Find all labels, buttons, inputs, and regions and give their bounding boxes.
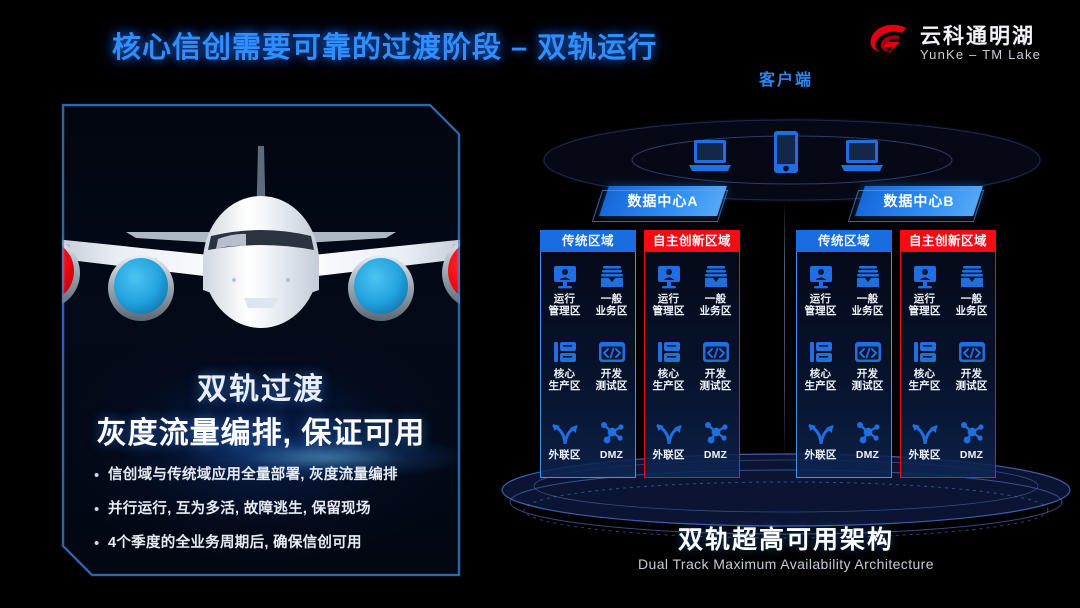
zone-column-body: 运行管理区 一般业务区 核心生产区 开发测试区 — [644, 252, 740, 478]
zone-cell-label: 运行管理区 — [548, 293, 580, 317]
zone-cell-general-business[interactable]: 一般业务区 — [692, 252, 739, 327]
zone-column-innovation-b[interactable]: 自主创新区域 运行管理区 一般业务区 核心生产区 — [900, 230, 996, 478]
zone-column-innovation-a[interactable]: 自主创新区域 运行管理区 一般业务区 核心生产区 — [644, 230, 740, 478]
zone-cell-label: 开发测试区 — [851, 368, 883, 392]
zone-cell-dmz[interactable]: DMZ — [692, 402, 739, 477]
client-tier-label: 客户端 — [492, 66, 1080, 90]
user-monitor-icon — [656, 264, 682, 290]
zone-cell-label: 开发测试区 — [699, 368, 731, 392]
code-brackets-icon — [854, 339, 882, 365]
arrows-branch-icon — [911, 420, 939, 446]
network-nodes-icon — [855, 420, 881, 446]
zone-cell-label: DMZ — [600, 449, 623, 461]
zone-cell-core-production[interactable]: 核心生产区 — [901, 327, 948, 402]
list-item-label: 4个季度的全业务周期后, 确保信创可用 — [108, 534, 362, 553]
zone-column-traditional-b[interactable]: 传统区域 运行管理区 一般业务区 核心生产区 — [796, 230, 892, 478]
bullet-marker-icon: • — [94, 466, 108, 485]
zone-cell-dev-test[interactable]: 开发测试区 — [692, 327, 739, 402]
engine-inner-right — [348, 255, 414, 321]
airplane-front-view-image — [62, 140, 460, 340]
zone-column-header: 传统区域 — [796, 230, 892, 252]
zone-cell-core-production[interactable]: 核心生产区 — [645, 327, 692, 402]
zone-column-body: 运行管理区 一般业务区 核心生产区 开发测试区 — [796, 252, 892, 478]
zone-cell-label: 开发测试区 — [955, 368, 987, 392]
zone-cell-external[interactable]: 外联区 — [901, 402, 948, 477]
zone-cell-label: 核心生产区 — [548, 368, 580, 392]
zone-cell-general-business[interactable]: 一般业务区 — [948, 252, 995, 327]
client-devices — [492, 114, 1080, 174]
zone-column-body: 运行管理区 一般业务区 核心生产区 开发测试区 — [900, 252, 996, 478]
zone-column-header: 自主创新区域 — [644, 230, 740, 252]
zone-cell-label: 核心生产区 — [804, 368, 836, 392]
user-monitor-icon — [808, 264, 834, 290]
zone-cell-dmz[interactable]: DMZ — [844, 402, 891, 477]
hero-bullet-list: • 信创域与传统域应用全量部署, 灰度流量编排 • 并行运行, 互为多活, 故障… — [94, 466, 444, 568]
list-item: • 信创域与传统域应用全量部署, 灰度流量编排 — [94, 466, 444, 485]
list-item: • 并行运行, 互为多活, 故障逃生, 保留现场 — [94, 500, 444, 519]
laptop-icon — [839, 138, 885, 174]
zone-cell-dmz[interactable]: DMZ — [588, 402, 635, 477]
architecture-diagram: 客户端 — [492, 58, 1080, 608]
list-item-label: 信创域与传统域应用全量部署, 灰度流量编排 — [108, 466, 398, 485]
zone-cell-label: 运行管理区 — [652, 293, 684, 317]
code-brackets-icon — [958, 339, 986, 365]
slide-root: 核心信创需要可靠的过渡阶段 – 双轨运行 云科通明湖 YunKe – TM La… — [0, 0, 1080, 608]
zone-cell-label: 一般业务区 — [699, 293, 731, 317]
data-center-divider — [784, 198, 785, 464]
zone-cell-core-production[interactable]: 核心生产区 — [797, 327, 844, 402]
arrows-branch-icon — [807, 420, 835, 446]
zone-cell-label: 一般业务区 — [955, 293, 987, 317]
zone-cell-label: 外联区 — [908, 449, 940, 461]
zone-cell-external[interactable]: 外联区 — [797, 402, 844, 477]
zone-cell-label: DMZ — [704, 449, 727, 461]
code-brackets-icon — [598, 339, 626, 365]
layers-inbox-icon — [703, 264, 729, 290]
zone-cell-label: DMZ — [856, 449, 879, 461]
zone-cell-dmz[interactable]: DMZ — [948, 402, 995, 477]
zone-cell-dev-test[interactable]: 开发测试区 — [948, 327, 995, 402]
arrows-branch-icon — [655, 420, 683, 446]
zone-cell-label: 外联区 — [804, 449, 836, 461]
architecture-subtitle: Dual Track Maximum Availability Architec… — [492, 556, 1080, 572]
user-monitor-icon — [552, 264, 578, 290]
layers-inbox-icon — [599, 264, 625, 290]
zone-cell-external[interactable]: 外联区 — [541, 402, 588, 477]
zone-cell-label: 运行管理区 — [804, 293, 836, 317]
logo-name-cn: 云科通明湖 — [920, 20, 1035, 50]
hero-panel: 双轨过渡 灰度流量编排, 保证可用 • 信创域与传统域应用全量部署, 灰度流量编… — [62, 104, 460, 576]
zone-cell-dev-test[interactable]: 开发测试区 — [588, 327, 635, 402]
fuselage — [203, 196, 319, 328]
zone-column-header: 传统区域 — [540, 230, 636, 252]
zone-cell-core-production[interactable]: 核心生产区 — [541, 327, 588, 402]
data-center-banner-b: 数据中心B — [860, 186, 978, 216]
network-nodes-icon — [599, 420, 625, 446]
zone-cell-label: 核心生产区 — [908, 368, 940, 392]
zone-cell-label: 一般业务区 — [851, 293, 883, 317]
arrows-branch-icon — [551, 420, 579, 446]
bullet-marker-icon: • — [94, 500, 108, 519]
zone-cell-label: 开发测试区 — [595, 368, 627, 392]
architecture-title: 双轨超高可用架构 — [492, 520, 1080, 556]
server-stack-icon — [656, 339, 682, 365]
zone-cell-general-business[interactable]: 一般业务区 — [588, 252, 635, 327]
list-item: • 4个季度的全业务周期后, 确保信创可用 — [94, 534, 444, 553]
zone-cell-operations[interactable]: 运行管理区 — [797, 252, 844, 327]
layers-inbox-icon — [855, 264, 881, 290]
user-monitor-icon — [912, 264, 938, 290]
zone-cell-operations[interactable]: 运行管理区 — [541, 252, 588, 327]
zone-cell-label: 核心生产区 — [652, 368, 684, 392]
zone-cell-dev-test[interactable]: 开发测试区 — [844, 327, 891, 402]
zone-column-traditional-a[interactable]: 传统区域 运行管理区 一般业务区 核心生产区 — [540, 230, 636, 478]
zone-cell-label: 外联区 — [652, 449, 684, 461]
bullet-marker-icon: • — [94, 534, 108, 553]
network-nodes-icon — [703, 420, 729, 446]
smartphone-icon — [773, 130, 799, 174]
zone-cell-operations[interactable]: 运行管理区 — [901, 252, 948, 327]
list-item-label: 并行运行, 互为多活, 故障逃生, 保留现场 — [108, 500, 371, 519]
laptop-icon — [687, 138, 733, 174]
zone-cell-general-business[interactable]: 一般业务区 — [844, 252, 891, 327]
engine-inner-left — [108, 255, 174, 321]
hero-heading: 双轨过渡 — [62, 364, 460, 408]
server-stack-icon — [808, 339, 834, 365]
hero-subheading: 灰度流量编排, 保证可用 — [62, 408, 460, 452]
data-center-banner-a: 数据中心A — [604, 186, 722, 216]
code-brackets-icon — [702, 339, 730, 365]
zone-cell-operations[interactable]: 运行管理区 — [645, 252, 692, 327]
zone-cell-label: 一般业务区 — [595, 293, 627, 317]
zone-column-body: 运行管理区 一般业务区 核心生产区 开发测试区 — [540, 252, 636, 478]
zone-cell-label: 运行管理区 — [908, 293, 940, 317]
zone-cell-external[interactable]: 外联区 — [645, 402, 692, 477]
zone-cell-label: DMZ — [960, 449, 983, 461]
zone-column-header: 自主创新区域 — [900, 230, 996, 252]
server-stack-icon — [912, 339, 938, 365]
layers-inbox-icon — [959, 264, 985, 290]
zone-cell-label: 外联区 — [548, 449, 580, 461]
data-center-banner-label: 数据中心A — [604, 186, 722, 216]
server-stack-icon — [552, 339, 578, 365]
data-center-banner-label: 数据中心B — [860, 186, 978, 216]
network-nodes-icon — [959, 420, 985, 446]
